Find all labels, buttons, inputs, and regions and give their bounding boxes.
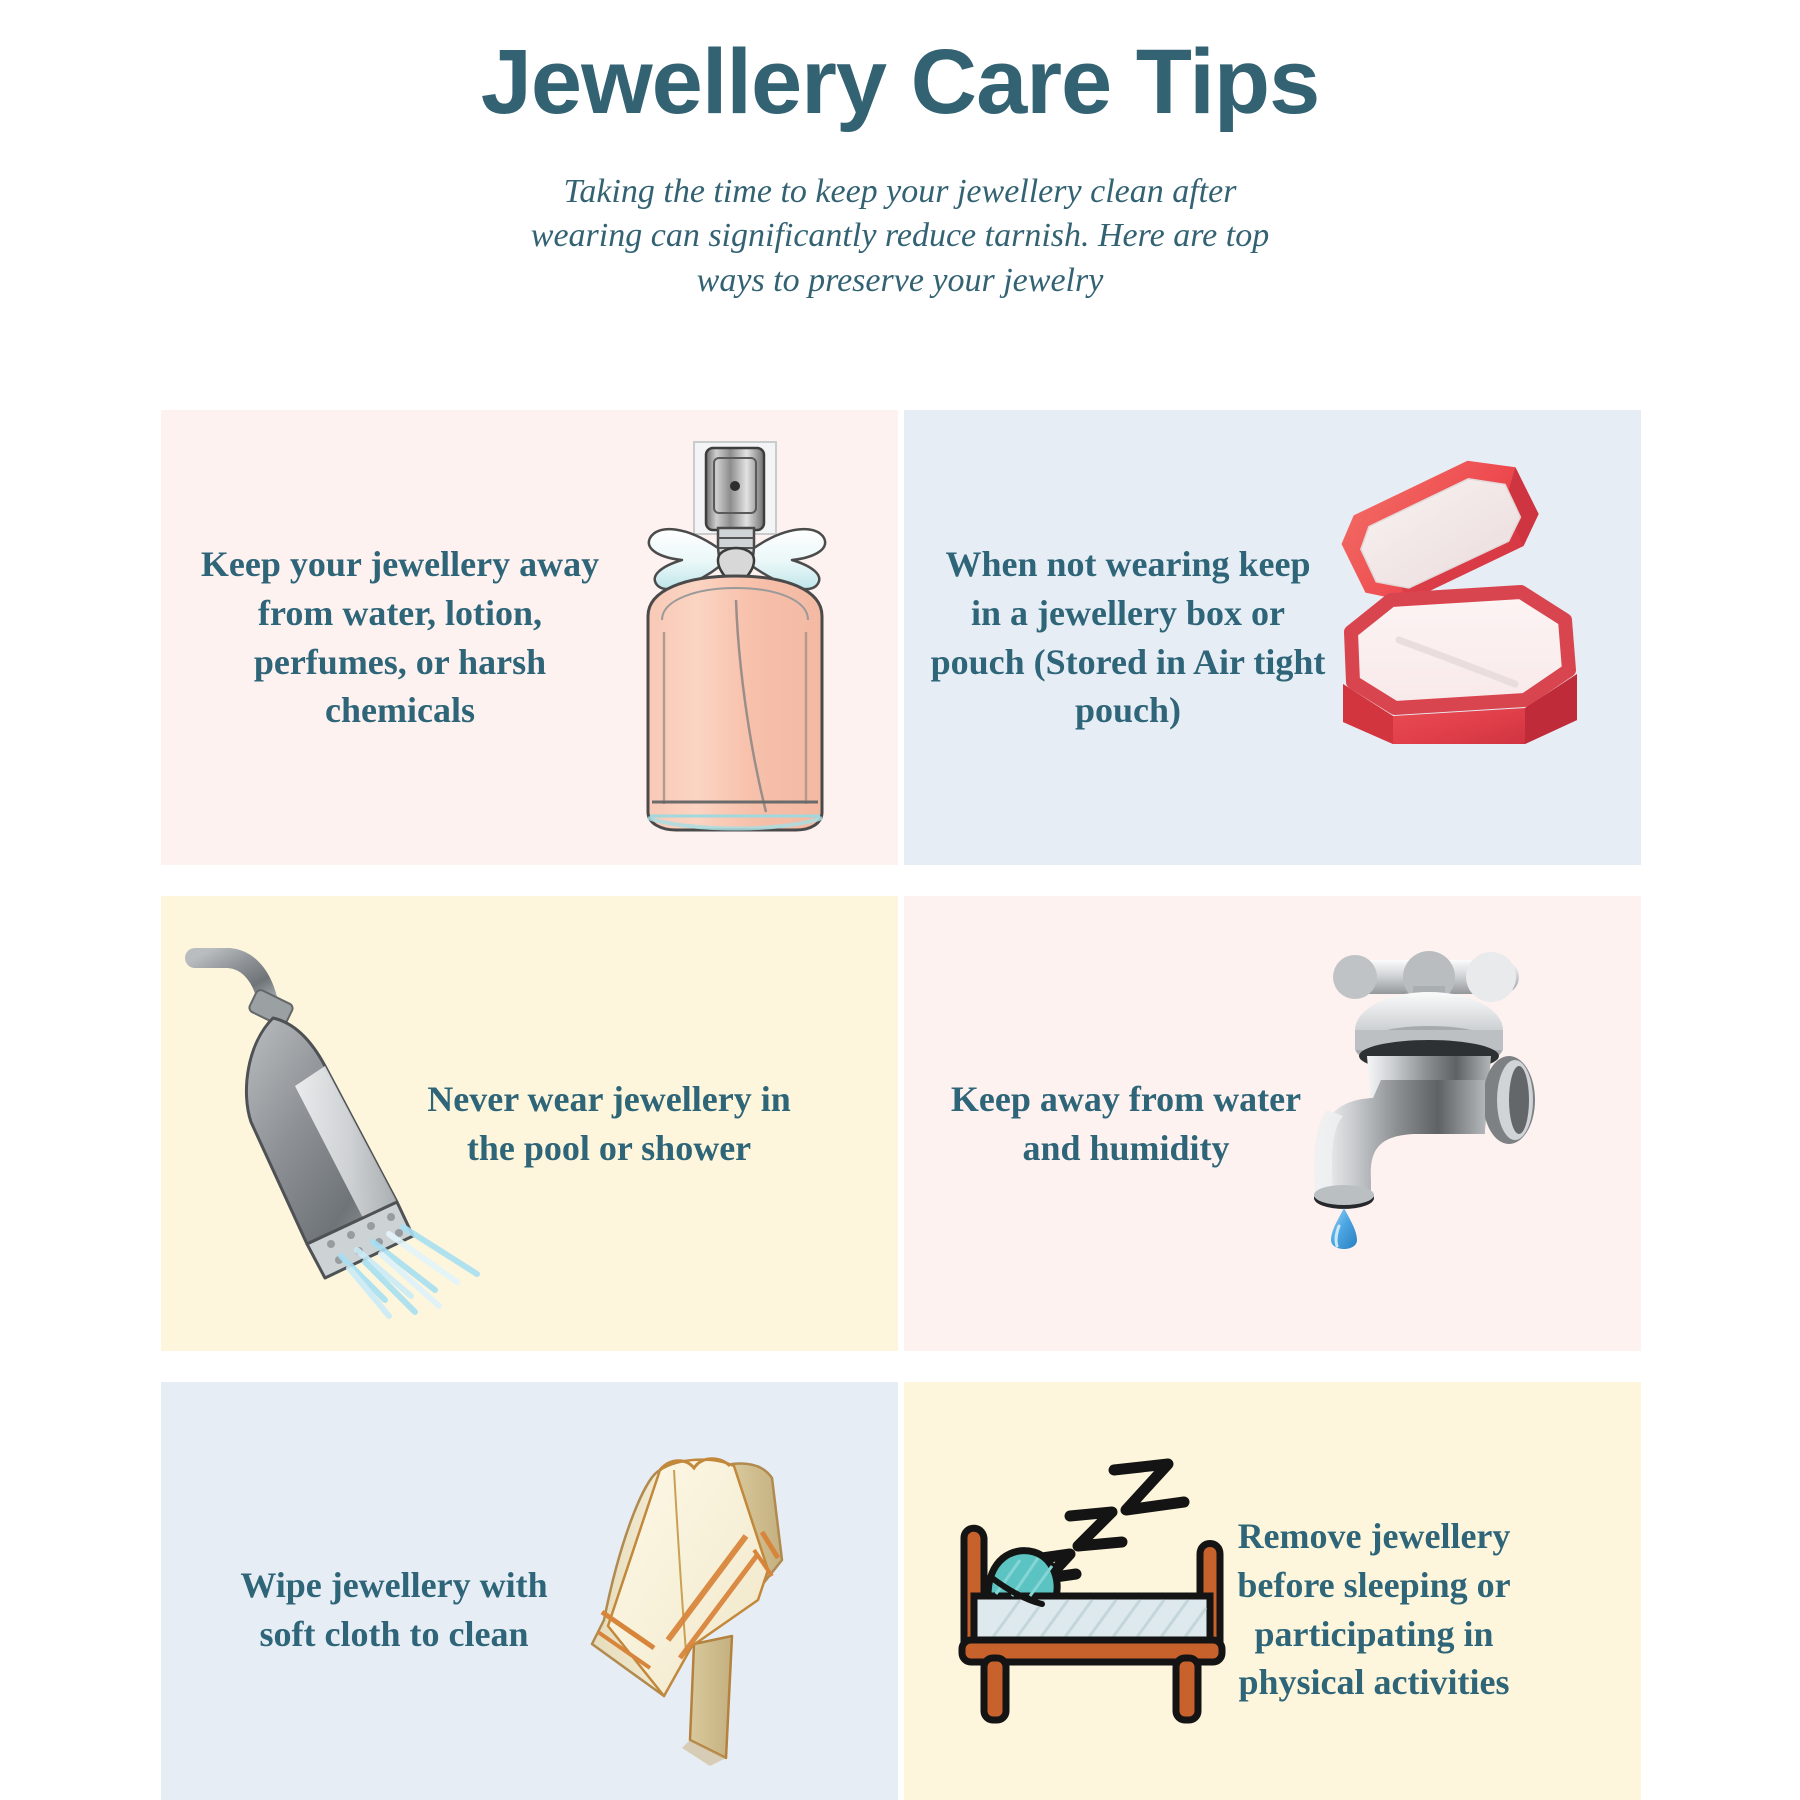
card-sleeping[interactable]: Remove jewellery before sleeping or part… — [904, 1382, 1641, 1800]
card-storage-text: When not wearing keep in a jewellery box… — [928, 540, 1328, 734]
tips-grid: Keep your jewellery away from water, lot… — [161, 410, 1641, 1800]
card-water-humidity-text: Keep away from water and humidity — [946, 1075, 1306, 1172]
card-pool-shower-text: Never wear jewellery in the pool or show… — [419, 1075, 799, 1172]
jewellery-box-icon — [1329, 444, 1619, 744]
header: Jewellery Care Tips Taking the time to k… — [0, 0, 1800, 304]
faucet-icon — [1309, 930, 1589, 1260]
card-chemicals[interactable]: Keep your jewellery away from water, lot… — [161, 410, 898, 865]
infographic-page: Jewellery Care Tips Taking the time to k… — [0, 0, 1800, 1800]
card-soft-cloth-text: Wipe jewellery with soft cloth to clean — [209, 1561, 579, 1658]
card-sleeping-text: Remove jewellery before sleeping or part… — [1204, 1512, 1544, 1706]
card-water-humidity[interactable]: Keep away from water and humidity — [904, 896, 1641, 1351]
card-chemicals-text: Keep your jewellery away from water, lot… — [185, 540, 615, 734]
bed-sleeping-icon — [942, 1454, 1242, 1734]
card-soft-cloth[interactable]: Wipe jewellery with soft cloth to clean — [161, 1382, 898, 1800]
page-subtitle: Taking the time to keep your jewellery c… — [505, 170, 1295, 305]
cloth-icon — [582, 1440, 842, 1790]
page-title: Jewellery Care Tips — [0, 34, 1800, 132]
perfume-bottle-icon — [600, 420, 850, 850]
card-pool-shower[interactable]: Never wear jewellery in the pool or show… — [161, 896, 898, 1351]
card-storage[interactable]: When not wearing keep in a jewellery box… — [904, 410, 1641, 865]
